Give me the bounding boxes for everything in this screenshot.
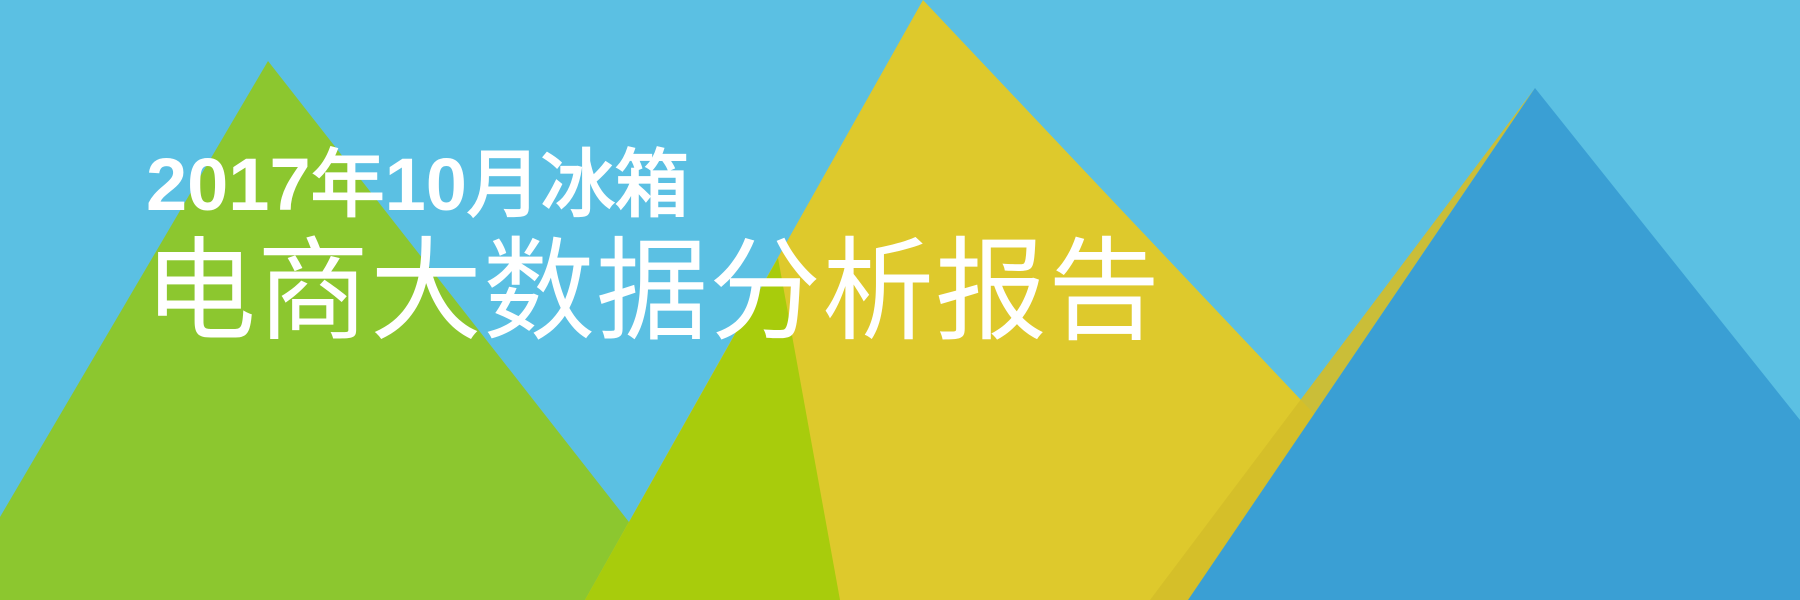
page-title-line-2: 电商大数据分析报告 <box>144 236 1240 348</box>
report-cover-banner: 2017年10月冰箱 电商大数据分析报告 <box>0 0 1800 600</box>
cover-title-block: 2017年10月冰箱 电商大数据分析报告 <box>140 148 1240 348</box>
page-title-line-1: 2017年10月冰箱 <box>146 148 1240 222</box>
